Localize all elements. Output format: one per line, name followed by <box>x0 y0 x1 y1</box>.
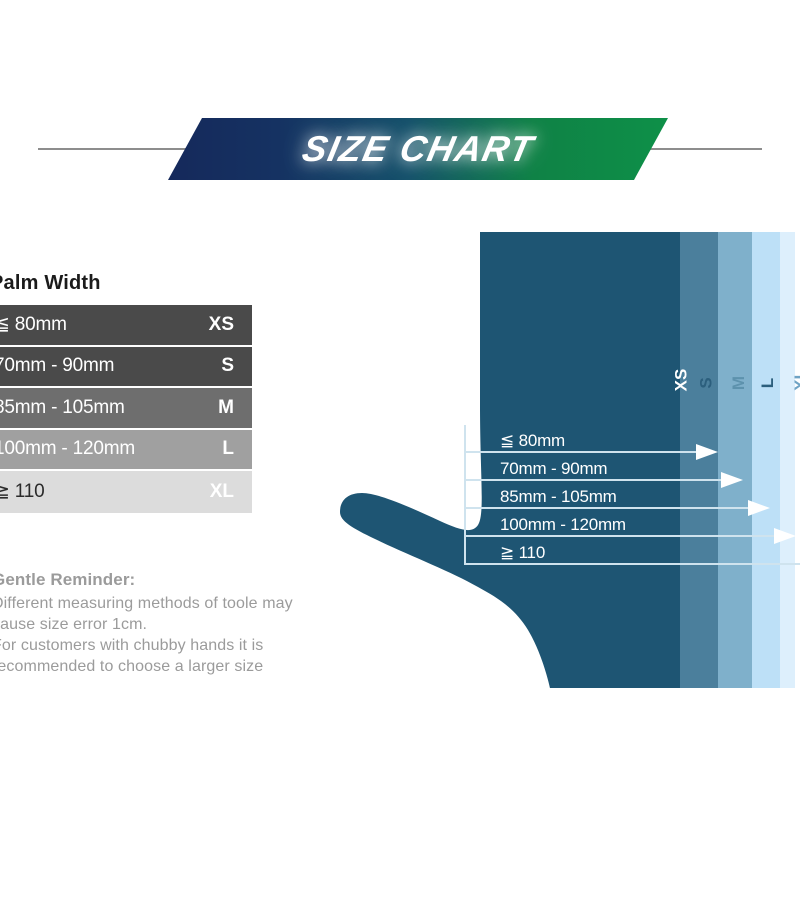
row-size-label: S <box>221 355 240 377</box>
size-chart-page: SIZE CHART Palm Width ≦ 80mm XS 70mm - 9… <box>0 0 800 900</box>
row-size-label: L <box>222 438 240 460</box>
glove-measure-xl: ≧ 110 <box>500 543 545 563</box>
title-banner: SIZE CHART <box>168 118 668 180</box>
glove-illustration: ≦ 80mm 70mm - 90mm 85mm - 105mm 100mm - … <box>300 225 800 695</box>
glove-measure-m: 85mm - 105mm <box>500 487 617 507</box>
glove-band-label-m: M <box>729 376 749 390</box>
row-measurement: ≦ 80mm <box>0 313 67 336</box>
glove-band-label-l: L <box>758 378 778 388</box>
row-measurement: 100mm - 120mm <box>0 438 135 460</box>
glove-band-m <box>718 225 752 695</box>
table-row: 85mm - 105mm M <box>0 388 252 430</box>
table-row: ≧ 110 XL <box>0 471 252 513</box>
table-row: 100mm - 120mm L <box>0 430 252 472</box>
row-measurement: 85mm - 105mm <box>0 397 125 419</box>
glove-measure-l: 100mm - 120mm <box>500 515 626 535</box>
palm-width-header: Palm Width <box>0 272 101 295</box>
row-measurement: ≧ 110 <box>0 480 45 503</box>
row-size-label: XL <box>210 481 240 503</box>
glove-measure-xs: ≦ 80mm <box>500 431 565 451</box>
row-size-label: M <box>218 397 240 419</box>
glove-band-xs <box>300 225 680 695</box>
glove-band-label-xs: XS <box>671 369 691 392</box>
banner-title: SIZE CHART <box>298 128 537 170</box>
glove-band-label-xl: XL <box>791 369 800 391</box>
glove-band-xl <box>780 225 800 695</box>
table-row: ≦ 80mm XS <box>0 305 252 347</box>
row-size-label: XS <box>209 314 240 336</box>
glove-band-label-s: S <box>697 377 717 388</box>
size-table: ≦ 80mm XS 70mm - 90mm S 85mm - 105mm M 1… <box>0 305 252 513</box>
glove-band-l <box>752 225 780 695</box>
glove-band-s <box>680 225 718 695</box>
row-measurement: 70mm - 90mm <box>0 355 114 377</box>
glove-measure-s: 70mm - 90mm <box>500 459 607 479</box>
table-row: 70mm - 90mm S <box>0 347 252 389</box>
